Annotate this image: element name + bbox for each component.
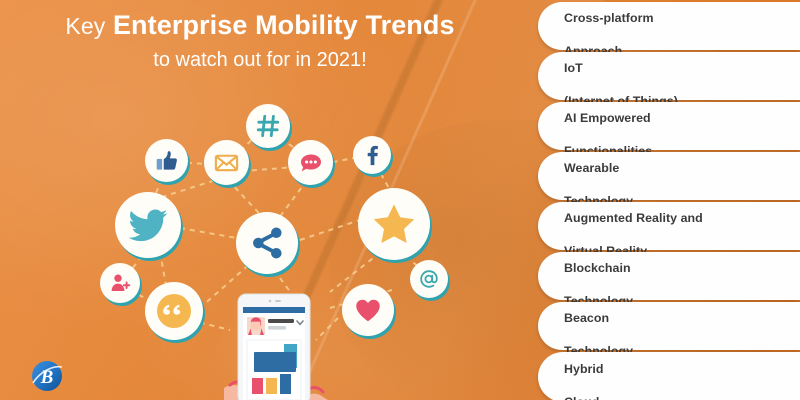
at-icon: [410, 260, 448, 298]
quote-icon: [145, 282, 203, 340]
email-icon: [204, 140, 249, 185]
list-item-line1: Blockchain: [564, 261, 631, 275]
node-email[interactable]: [204, 140, 249, 185]
node-share[interactable]: [236, 212, 298, 274]
node-twitter[interactable]: [115, 192, 181, 258]
list-item-line1: Beacon: [564, 311, 609, 325]
list-item-line1: Augmented Reality and: [564, 211, 703, 225]
trends-list: Cross-platform Approach IoT (Internet of…: [538, 0, 800, 400]
list-item-line1: Wearable: [564, 161, 619, 175]
twitter-icon: [115, 192, 181, 258]
node-heart[interactable]: [342, 284, 394, 336]
node-add-user[interactable]: [100, 263, 140, 303]
list-item-line1: Cross-platform: [564, 11, 654, 25]
node-thumbs-up[interactable]: [145, 139, 188, 182]
share-icon: [236, 212, 298, 274]
infographic-canvas: Key Enterprise Mobility Trends to watch …: [0, 0, 800, 400]
hashtag-icon: [246, 104, 290, 148]
comment-icon: [288, 140, 333, 185]
node-facebook[interactable]: [353, 136, 391, 174]
thumbs-up-icon: [145, 139, 188, 182]
facebook-icon: [353, 136, 391, 174]
heart-icon: [342, 284, 394, 336]
add-user-icon: [100, 263, 140, 303]
node-hashtag[interactable]: [246, 104, 290, 148]
list-item-line2: Cloud: [564, 395, 599, 400]
node-at[interactable]: [410, 260, 448, 298]
star-icon: [358, 188, 430, 260]
list-item-line1: IoT: [564, 61, 583, 75]
list-item[interactable]: Hybrid Cloud: [538, 352, 800, 400]
logo-letter: B: [40, 367, 54, 388]
list-item-line1: AI Empowered: [564, 111, 651, 125]
tablet-mockup: [218, 292, 330, 400]
list-item[interactable]: Beacon Technology: [538, 302, 800, 350]
node-comment[interactable]: [288, 140, 333, 185]
node-star[interactable]: [358, 188, 430, 260]
list-item-line1: Hybrid: [564, 362, 604, 376]
brand-logo[interactable]: B: [28, 357, 66, 395]
list-item-label: Hybrid Cloud: [564, 344, 604, 400]
node-quote[interactable]: [145, 282, 203, 340]
